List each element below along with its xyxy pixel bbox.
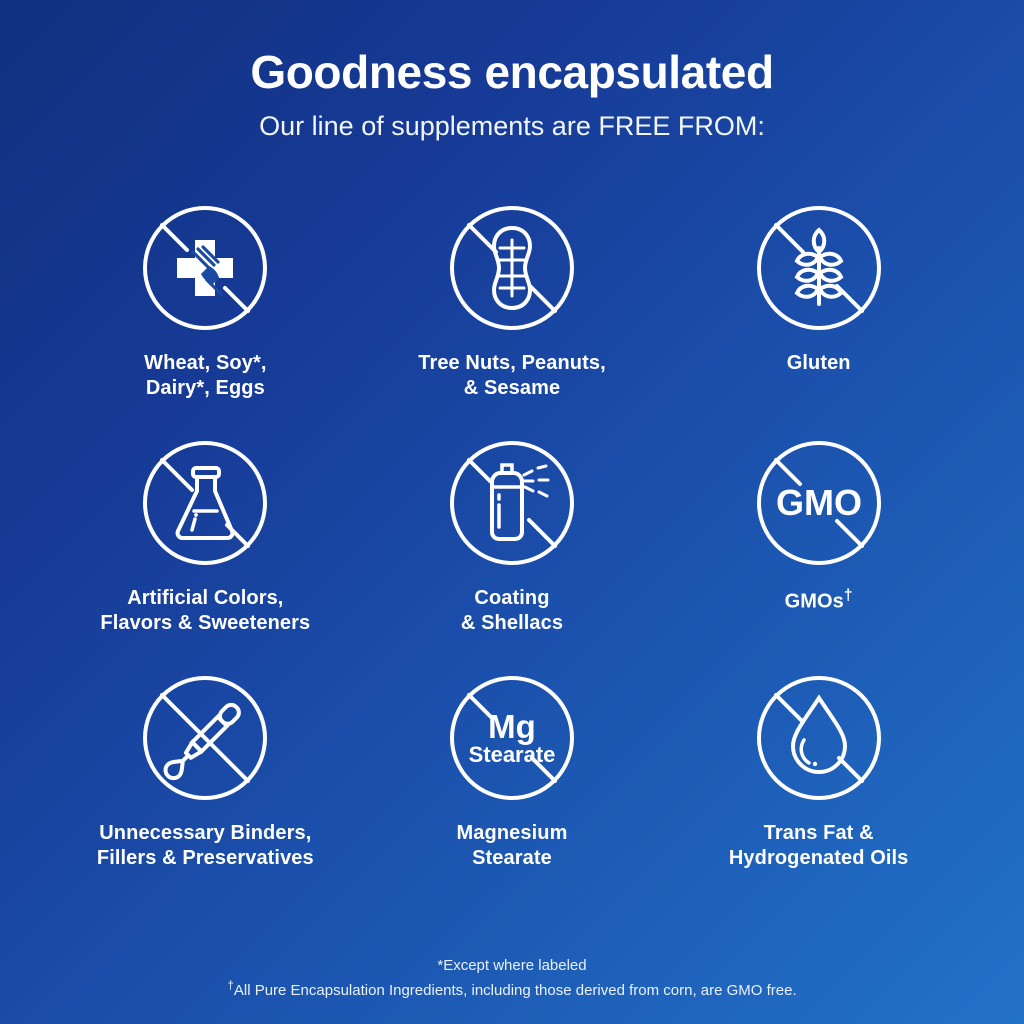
footnote-dagger-text: All Pure Encapsulation Ingredients, incl… (234, 982, 797, 999)
no-wheat-stalk-icon (751, 200, 887, 336)
no-gmo-text-icon: GMO (751, 435, 887, 571)
footnote-asterisk: *Except where labeled (0, 954, 1024, 977)
grid-item-wheat-soy-dairy-eggs: Wheat, Soy*, Dairy*, Eggs (52, 200, 359, 435)
no-mg-stearate-text-icon: Mg Stearate (444, 670, 580, 806)
page-subtitle: Our line of supplements are FREE FROM: (0, 112, 1024, 142)
grid-item-gmos: GMO GMOs† (665, 435, 972, 670)
no-flask-icon (137, 435, 273, 571)
no-spray-can-icon (444, 435, 580, 571)
grid-item-tree-nuts-peanuts-sesame: Tree Nuts, Peanuts, & Sesame (359, 200, 666, 435)
grid-item-magnesium-stearate: Mg Stearate Magnesium Stearate (359, 670, 666, 905)
no-dropper-icon (137, 670, 273, 806)
no-oil-droplet-icon (751, 670, 887, 806)
grid-item-label: Tree Nuts, Peanuts, & Sesame (418, 351, 606, 401)
page-title: Goodness encapsulated (0, 48, 1024, 96)
grid-item-label: Unnecessary Binders, Fillers & Preservat… (97, 821, 314, 871)
gmo-icon-text: GMO (776, 482, 862, 523)
grid-item-label: Artificial Colors, Flavors & Sweeteners (100, 586, 310, 636)
footnote-dagger: †All Pure Encapsulation Ingredients, inc… (0, 977, 1024, 1002)
header: Goodness encapsulated Our line of supple… (0, 48, 1024, 142)
no-peanut-icon (444, 200, 580, 336)
footnotes: *Except where labeled †All Pure Encapsul… (0, 954, 1024, 1003)
grid-item-trans-fat-hydrogenated-oils: Trans Fat & Hydrogenated Oils (665, 670, 972, 905)
poster-canvas: Goodness encapsulated Our line of supple… (0, 0, 1024, 1024)
grid-item-label-superscript: † (844, 587, 853, 604)
free-from-grid: Wheat, Soy*, Dairy*, Eggs (52, 200, 972, 905)
mg-icon-text: Mg (488, 708, 536, 745)
grid-item-label: Wheat, Soy*, Dairy*, Eggs (144, 351, 266, 401)
grid-item-label: Gluten (787, 351, 851, 376)
grid-item-artificial-colors-flavors-sweeteners: Artificial Colors, Flavors & Sweeteners (52, 435, 359, 670)
grid-item-label: Coating & Shellacs (461, 586, 563, 636)
stearate-icon-text: Stearate (469, 742, 556, 767)
grid-item-gluten: Gluten (665, 200, 972, 435)
grid-item-label: Magnesium Stearate (457, 821, 568, 871)
grid-item-unnecessary-binders-fillers-preservatives: Unnecessary Binders, Fillers & Preservat… (52, 670, 359, 905)
grid-item-coating-shellacs: Coating & Shellacs (359, 435, 666, 670)
grid-item-label: GMOs† (785, 586, 853, 615)
grid-item-label: Trans Fat & Hydrogenated Oils (729, 821, 909, 871)
grid-item-label-text: GMOs (785, 591, 844, 613)
no-fork-knife-cross-icon (137, 200, 273, 336)
